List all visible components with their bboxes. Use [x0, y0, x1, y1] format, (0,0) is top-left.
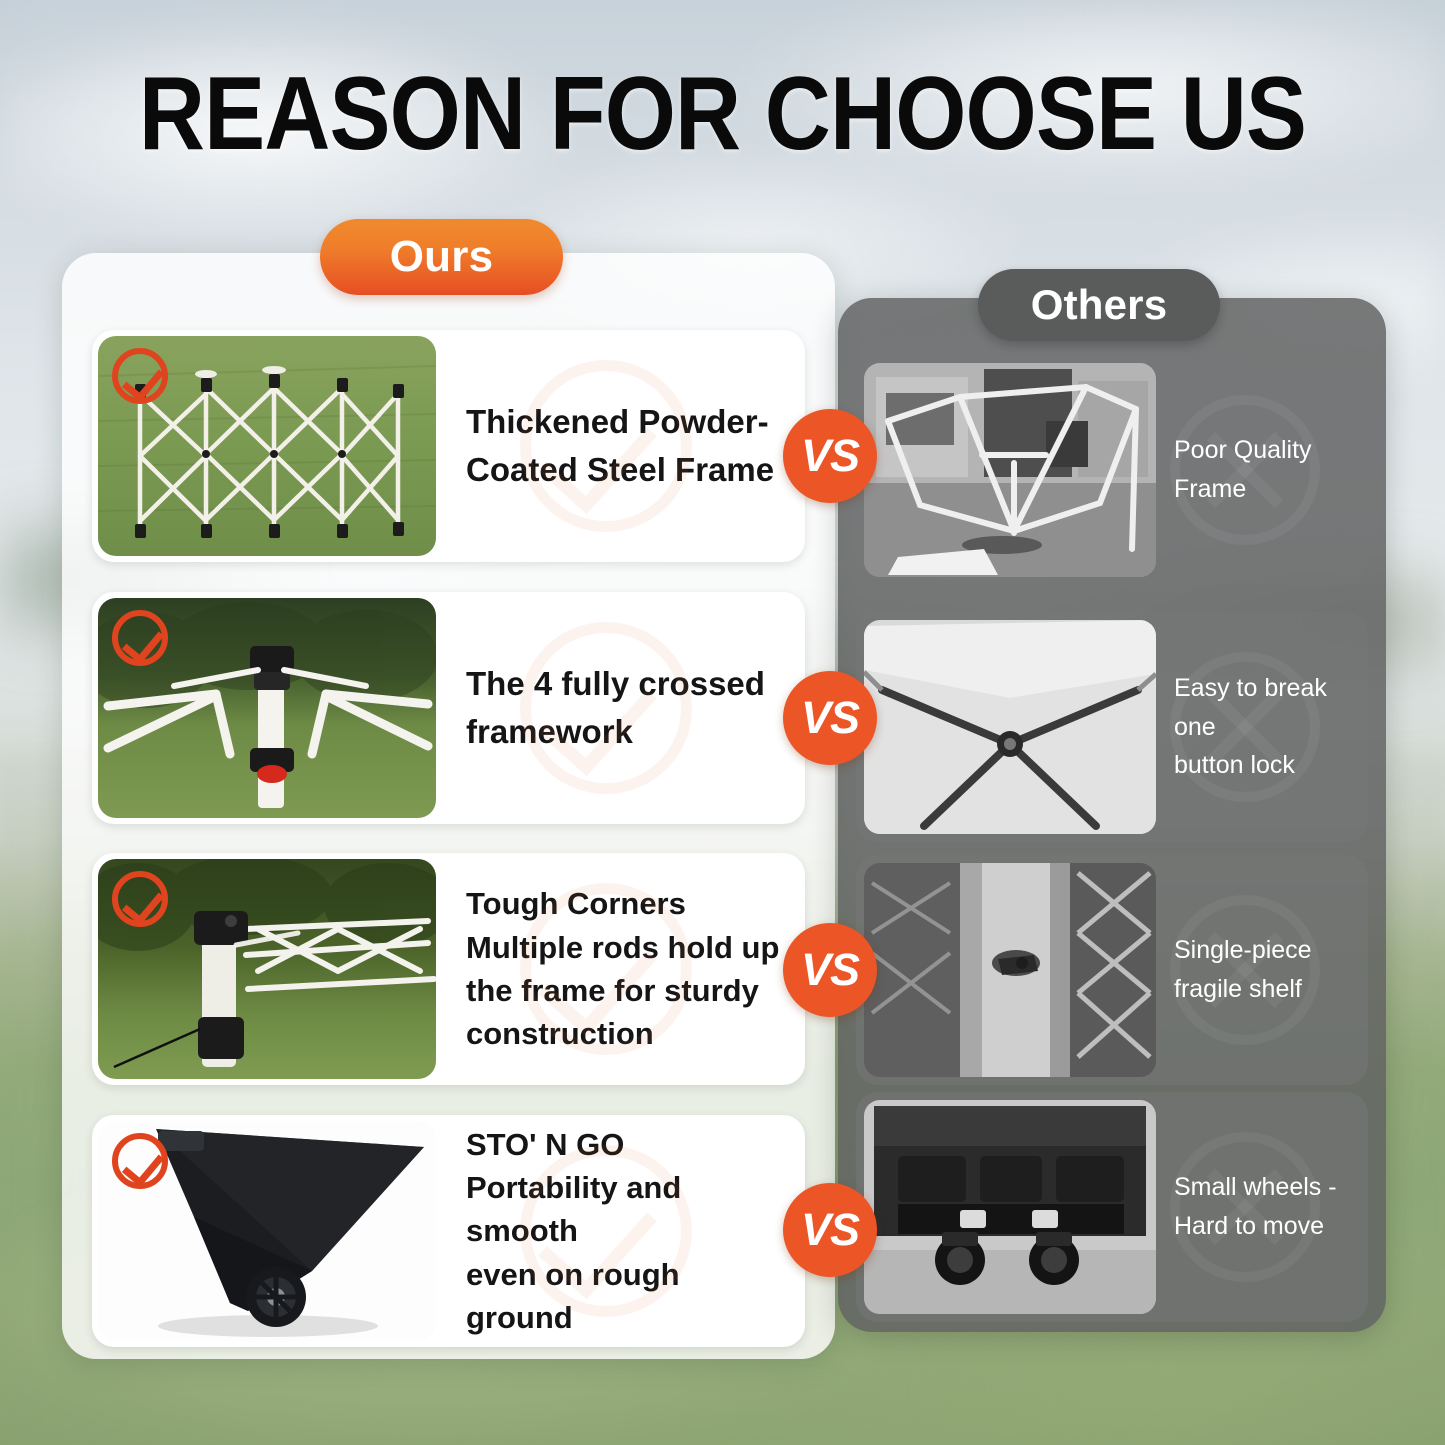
others-drawback-row: Poor Quality Frame — [856, 355, 1368, 585]
others-drawback-text: Single-piece fragile shelf — [1156, 855, 1368, 1085]
ours-feature-row: The 4 fully crossed framework — [92, 592, 805, 824]
fragile-shelf-illustration — [864, 863, 1156, 1077]
others-drawback-line: Easy to break one — [1174, 669, 1356, 747]
ours-feature-line: even on rough ground — [466, 1253, 787, 1340]
ours-feature-text: STO' N GO Portability and smooth even on… — [436, 1115, 805, 1347]
check-circle-icon — [112, 871, 168, 927]
others-drawback-text: Poor Quality Frame — [1156, 355, 1368, 585]
others-drawback-row: Small wheels - Hard to move — [856, 1092, 1368, 1322]
others-drawback-row: Easy to break one button lock — [856, 612, 1368, 842]
ours-photo-sto-n-go-bag — [98, 1121, 436, 1341]
others-photo-broken-frame — [864, 363, 1156, 577]
vs-badge: VS — [783, 671, 877, 765]
ours-feature-line: framework — [466, 708, 787, 756]
vs-badge: VS — [783, 1183, 877, 1277]
others-drawback-text: Small wheels - Hard to move — [1156, 1092, 1368, 1322]
ours-feature-text: Thickened Powder- Coated Steel Frame — [436, 330, 805, 562]
single-cross-brace-illustration — [864, 620, 1156, 834]
ours-feature-line: STO' N GO — [466, 1123, 787, 1166]
check-circle-icon — [112, 1133, 168, 1189]
others-drawback-line: Poor Quality Frame — [1174, 431, 1356, 509]
ours-feature-line: the frame for sturdy — [466, 969, 787, 1012]
others-drawback-line: fragile shelf — [1174, 970, 1356, 1009]
ours-feature-line: Multiple rods hold up — [466, 926, 787, 969]
others-badge: Others — [978, 269, 1220, 341]
others-drawback-line: Small wheels - — [1174, 1168, 1356, 1207]
ours-feature-row: Thickened Powder- Coated Steel Frame — [92, 330, 805, 562]
ours-feature-line: Tough Corners — [466, 882, 787, 925]
check-circle-icon — [112, 348, 168, 404]
ours-feature-line: Portability and smooth — [466, 1166, 787, 1253]
check-circle-icon — [112, 610, 168, 666]
ours-feature-text: Tough Corners Multiple rods hold up the … — [436, 853, 805, 1085]
ours-feature-line: construction — [466, 1012, 787, 1055]
others-drawback-line: Single-piece — [1174, 931, 1356, 970]
ours-photo-crossed-framework — [98, 598, 436, 818]
vs-badge: VS — [783, 923, 877, 1017]
others-drawback-line: Hard to move — [1174, 1207, 1356, 1246]
page-title: REASON FOR CHOOSE US — [87, 62, 1359, 166]
others-drawback-line: button lock — [1174, 746, 1356, 785]
others-photo-small-wheels — [864, 1100, 1156, 1314]
ours-photo-tough-corner — [98, 859, 436, 1079]
ours-photo-steel-frame — [98, 336, 436, 556]
vs-badge: VS — [783, 409, 877, 503]
ours-feature-row: Tough Corners Multiple rods hold up the … — [92, 853, 805, 1085]
infographic-stage: REASON FOR CHOOSE US Ours Others — [0, 0, 1445, 1445]
ours-feature-line: The 4 fully crossed — [466, 660, 787, 708]
broken-frame-illustration — [864, 363, 1156, 577]
others-photo-single-button-lock — [864, 620, 1156, 834]
ours-feature-line: Coated Steel Frame — [466, 446, 787, 494]
others-photo-fragile-shelf — [864, 863, 1156, 1077]
small-wheels-illustration — [864, 1100, 1156, 1314]
others-drawback-row: Single-piece fragile shelf — [856, 855, 1368, 1085]
ours-feature-text: The 4 fully crossed framework — [436, 592, 805, 824]
others-drawback-text: Easy to break one button lock — [1156, 612, 1368, 842]
ours-feature-row: STO' N GO Portability and smooth even on… — [92, 1115, 805, 1347]
ours-feature-line: Thickened Powder- — [466, 398, 787, 446]
ours-badge: Ours — [320, 219, 563, 295]
